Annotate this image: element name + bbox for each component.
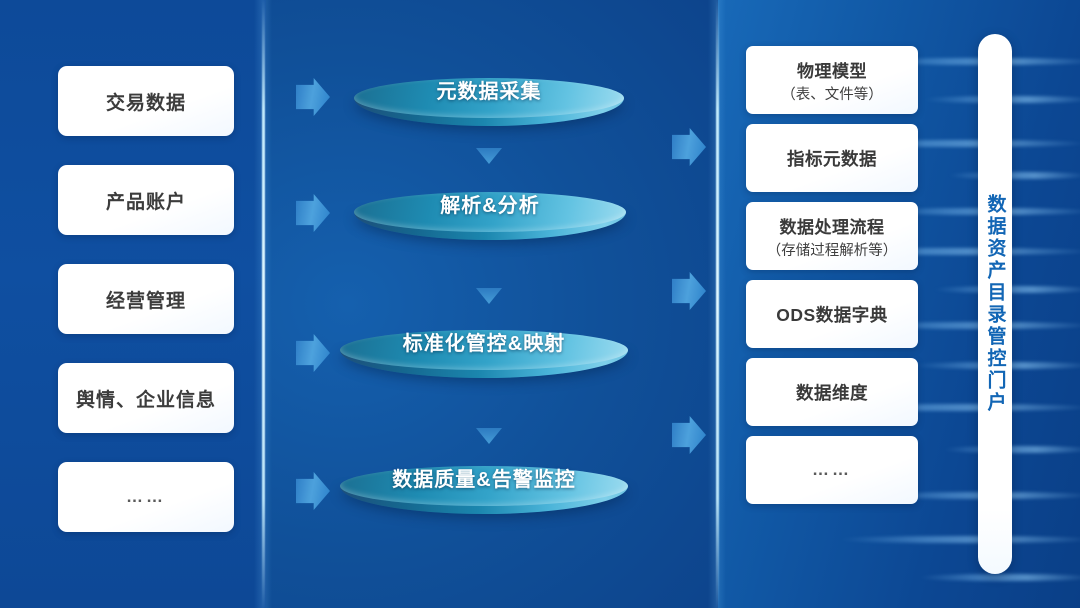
metadata-output-card[interactable]: 指标元数据 — [746, 124, 918, 192]
metadata-output-title: 物理模型 — [797, 57, 867, 82]
data-source-card-more[interactable]: …… — [58, 462, 234, 532]
metadata-output-title: 指标元数据 — [787, 146, 877, 171]
metadata-output-title: ODS数据字典 — [776, 302, 887, 327]
data-source-label: 交易数据 — [106, 88, 186, 115]
data-source-list: 交易数据 产品账户 经营管理 舆情、企业信息 …… — [58, 66, 234, 561]
metadata-output-card[interactable]: ODS数据字典 — [746, 280, 918, 348]
chevron-down-icon — [476, 148, 502, 164]
data-source-label: 经营管理 — [106, 286, 186, 313]
metadata-output-subtitle: （表、文件等） — [781, 83, 883, 104]
data-source-card[interactable]: 产品账户 — [58, 165, 234, 235]
data-source-card[interactable]: 舆情、企业信息 — [58, 363, 234, 433]
pipeline-stage-label: 标准化管控&映射 — [340, 332, 628, 356]
data-source-label: 舆情、企业信息 — [76, 385, 216, 412]
metadata-output-title: 数据处理流程 — [780, 213, 885, 238]
chevron-down-icon — [476, 288, 502, 304]
metadata-output-card[interactable]: 数据处理流程 （存储过程解析等） — [746, 202, 918, 270]
data-source-label: 产品账户 — [106, 187, 186, 214]
processing-pipeline: 元数据采集 解析&分析 标准化管控&映射 数据质量&告警监控 — [266, 0, 718, 608]
pipeline-stage-label: 数据质量&告警监控 — [340, 468, 628, 492]
diagram-canvas: 交易数据 产品账户 经营管理 舆情、企业信息 …… 元数据采集 解析&分析 — [0, 0, 1080, 608]
data-source-card[interactable]: 经营管理 — [58, 264, 234, 334]
metadata-output-title: 数据维度 — [796, 380, 868, 405]
pipeline-stage-label: 元数据采集 — [354, 80, 624, 104]
metadata-output-card-more[interactable]: …… — [746, 436, 918, 504]
pipeline-stage-label: 解析&分析 — [354, 194, 626, 218]
chevron-down-icon — [476, 428, 502, 444]
ellipsis-label: …… — [812, 460, 852, 480]
ellipsis-label: …… — [126, 487, 166, 507]
side-panel-portal[interactable]: 数据资产目录管控门户 — [978, 34, 1012, 574]
metadata-output-list: 物理模型 （表、文件等） 指标元数据 数据处理流程 （存储过程解析等） ODS数… — [746, 46, 918, 514]
metadata-output-card[interactable]: 数据维度 — [746, 358, 918, 426]
metadata-output-card[interactable]: 物理模型 （表、文件等） — [746, 46, 918, 114]
side-panel-title: 数据资产目录管控门户 — [983, 194, 1008, 414]
divider-left — [262, 0, 265, 608]
metadata-output-subtitle: （存储过程解析等） — [767, 239, 898, 260]
data-source-card[interactable]: 交易数据 — [58, 66, 234, 136]
